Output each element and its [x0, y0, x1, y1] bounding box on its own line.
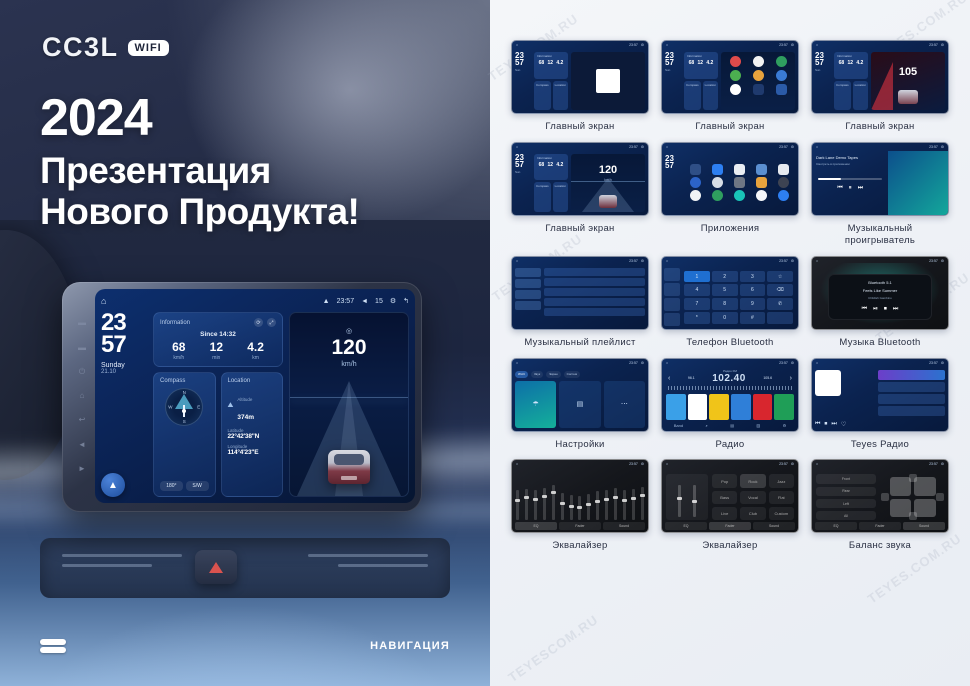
- mini-clock: 2357Sun: [815, 52, 831, 110]
- gallery-item[interactable]: ⌂23:57⚙ Dark Lane Demo Tapes Смотреть в …: [812, 142, 948, 247]
- call-icon[interactable]: ✆: [767, 298, 793, 310]
- balance-right-button[interactable]: [936, 493, 944, 501]
- balance-down-button[interactable]: [909, 512, 917, 520]
- gear-icon: ⚙: [941, 361, 944, 365]
- radio-toolbar[interactable]: Band ⌕ ▤ ▥ ⚙: [664, 422, 796, 429]
- gallery-item[interactable]: ⌂23:57⚙ 2357: [662, 142, 798, 247]
- thumb-status-bar: ⌂23:57⚙: [512, 460, 648, 468]
- tab-sound[interactable]: Sound: [603, 522, 645, 530]
- tab-sound[interactable]: Sound: [903, 522, 945, 530]
- screenshot-gallery: TEYESCOM.RU TEYES.COM.RU TEYESCOM.RU TEY…: [490, 0, 970, 686]
- tab-sound[interactable]: Sound: [753, 522, 795, 530]
- preset-pad[interactable]: Vocal: [740, 491, 765, 504]
- thumb-status-bar: ⌂23:57⚙: [812, 359, 948, 367]
- next-track-button[interactable]: ►: [78, 465, 86, 473]
- mini-home: 2357Sun Information68124.2 CompassLocati…: [662, 49, 798, 113]
- screenshot-equalizer-bars[interactable]: ⌂23:57⚙: [511, 459, 649, 533]
- teyes-station-list[interactable]: [878, 370, 945, 428]
- app-icon[interactable]: [690, 190, 701, 201]
- screenshot-home-apps[interactable]: ⌂23:57⚙ 2357Sun Information68124.2 Compa…: [661, 40, 799, 114]
- dial-key[interactable]: 8: [712, 298, 738, 310]
- screenshot-home-speed-red[interactable]: ⌂23:57⚙ 2357Sun Information68124.2 Compa…: [811, 40, 949, 114]
- gallery-item[interactable]: ⌂23:57⚙ 123☆ 456⌫ 789✆ *0# Телефон Bluet…: [662, 256, 798, 349]
- eq-slider[interactable]: [543, 488, 546, 521]
- dialer-sidebar[interactable]: [664, 268, 680, 326]
- screenshot-equalizer-pads[interactable]: ⌂23:57⚙ Pop Rock Jazz Bass Vocal Fla: [661, 459, 799, 533]
- car-plate: [341, 476, 357, 480]
- app-icon[interactable]: [690, 164, 701, 175]
- eq-slider[interactable]: [614, 488, 617, 520]
- preset-station[interactable]: [753, 394, 773, 420]
- band-button[interactable]: Band: [674, 423, 683, 428]
- volume-up-button[interactable]: ▬: [78, 319, 86, 327]
- preset-row[interactable]: Front: [816, 474, 876, 483]
- vent-line: [62, 564, 152, 567]
- mini-speed-widget: 105: [871, 52, 945, 110]
- backspace-icon[interactable]: ⌫: [767, 284, 793, 296]
- balance-presets[interactable]: Front Rear Left All: [816, 474, 876, 520]
- thumb-time: 23:57: [629, 462, 638, 466]
- dial-key[interactable]: 9: [740, 298, 766, 310]
- tab-eq[interactable]: EQ: [815, 522, 857, 530]
- station-row[interactable]: [878, 406, 945, 416]
- screenshot-home-media[interactable]: ⌂23:57⚙ 2357Sun Information68124.2 Compa…: [511, 40, 649, 114]
- gear-icon: ⚙: [941, 259, 944, 263]
- eq-slider[interactable]: [605, 490, 608, 521]
- app-icon: [776, 84, 787, 95]
- eq-slider[interactable]: [516, 490, 519, 520]
- sidebar-item[interactable]: [515, 301, 541, 310]
- eq-slider[interactable]: [596, 491, 599, 520]
- sidebar-item[interactable]: [515, 279, 541, 288]
- screenshot-sound-balance[interactable]: ⌂23:57⚙ Front Rear Left All: [811, 459, 949, 533]
- app-icon[interactable]: [734, 177, 745, 188]
- speed-limit-icon: ◎: [346, 327, 352, 335]
- thumb-time: 23:57: [779, 361, 788, 365]
- search-icon[interactable]: ⌕: [706, 423, 708, 428]
- gallery-item[interactable]: ⌂23:57⚙ Bluetooth 5.1 Feels Like Summer …: [812, 256, 948, 349]
- tab-fader[interactable]: Fader: [709, 522, 751, 530]
- nav-section-label: НАВИГАЦИЯ: [370, 640, 450, 652]
- preset-pad[interactable]: Custom: [769, 507, 794, 520]
- speed-value: 120: [599, 164, 617, 176]
- thumb-time: 23:57: [929, 43, 938, 47]
- next-station-button[interactable]: ›: [790, 375, 792, 382]
- speaker-rear-right[interactable]: [914, 499, 936, 518]
- gallery-caption: Настройки: [555, 439, 604, 451]
- track-list[interactable]: [544, 268, 645, 326]
- power-button[interactable]: ⏻: [79, 368, 85, 376]
- list-icon[interactable]: ▤: [730, 423, 734, 428]
- hazard-light-button[interactable]: [195, 550, 237, 584]
- eq-slider[interactable]: [578, 496, 581, 520]
- eq-slider[interactable]: [623, 490, 626, 520]
- sidebar-item[interactable]: [664, 268, 680, 281]
- dial-key[interactable]: 0: [712, 312, 738, 324]
- mini-media-widget: [571, 52, 645, 110]
- pause-button[interactable]: ⏸: [849, 185, 852, 192]
- thumb-status-bar: ⌂23:57⚙: [512, 257, 648, 265]
- preset-station[interactable]: [774, 394, 794, 420]
- clock-column: 23 57 Sunday 21.10 ▲: [101, 312, 147, 497]
- player-controls[interactable]: ⏮ ⏸ ⏭: [816, 185, 884, 192]
- thumb-time: 23:57: [629, 259, 638, 263]
- thumb-time: 23:57: [779, 259, 788, 263]
- preset-station[interactable]: [666, 394, 686, 420]
- sidebar-item[interactable]: [515, 290, 541, 299]
- gallery-item[interactable]: ⌂23:57⚙ 2357Sun Information68124.2 Compa…: [812, 40, 948, 133]
- frequency-scale[interactable]: [668, 386, 792, 390]
- compass-center-dot: [182, 409, 186, 413]
- equalizer-tabs[interactable]: EQ Fader Sound: [515, 522, 645, 530]
- app-icon[interactable]: [712, 190, 723, 201]
- preset-pad[interactable]: Bass: [712, 491, 737, 504]
- app-icon: [730, 56, 741, 67]
- information-header: Information ⟳ ⤢: [160, 318, 276, 327]
- app-icon[interactable]: [756, 164, 767, 175]
- player-artist: Смотреть в приложении: [816, 162, 884, 166]
- preset-row[interactable]: Rear: [816, 487, 876, 496]
- settings-icon[interactable]: ⚙: [783, 423, 787, 428]
- tab-eq[interactable]: EQ: [515, 522, 557, 530]
- gallery-item[interactable]: ⌂23:57⚙ Pop Rock Jazz Bass Vocal Fla: [662, 459, 798, 552]
- sidebar-item[interactable]: [664, 298, 680, 311]
- screenshot-settings[interactable]: ⌂23:57⚙ Wi-Fi Звук Экран Систем ☂ ▤ ⋯: [511, 358, 649, 432]
- dial-key[interactable]: 5: [712, 284, 738, 296]
- headline: 2024 Презентация Нового Продукта!: [40, 92, 359, 233]
- next-button[interactable]: ⏭: [858, 185, 863, 192]
- head-unit-device: ▬ ▬ ⏻ ⌂ ↩ ◄ ► ⌂ ▲ 23:57 ◄ 15: [62, 282, 422, 512]
- dial-key[interactable]: 4: [684, 284, 710, 296]
- tab-fader[interactable]: Fader: [559, 522, 601, 530]
- eq-slider[interactable]: [587, 494, 590, 520]
- tab-eq[interactable]: EQ: [665, 522, 707, 530]
- preset-pad[interactable]: Live: [712, 507, 737, 520]
- screenshot-music-player[interactable]: ⌂23:57⚙ Dark Lane Demo Tapes Смотреть в …: [811, 142, 949, 216]
- gallery-item[interactable]: ⌂23:57⚙: [512, 459, 648, 552]
- home-icon: ⌂: [816, 145, 818, 149]
- back-icon[interactable]: ↰: [403, 297, 409, 305]
- mini-app-shortcuts: [721, 52, 795, 110]
- gallery-item[interactable]: ⌂23:57⚙ ⏮ ⏹ ⏭ ♡: [812, 358, 948, 451]
- balance-up-button[interactable]: [909, 474, 917, 482]
- preset-pad[interactable]: Jazz: [769, 474, 794, 487]
- hazard-triangle-icon: [209, 562, 223, 573]
- preset-pads[interactable]: Pop Rock Jazz Bass Vocal Flat Live Club …: [712, 474, 794, 520]
- location-card[interactable]: Location ⛰ Altitude 374m: [221, 372, 284, 497]
- sidebar-item[interactable]: [664, 283, 680, 296]
- speed-value: 105: [899, 66, 917, 78]
- altitude-value: 374m: [237, 414, 254, 421]
- preset-row[interactable]: Left: [816, 499, 876, 508]
- dial-key[interactable]: #: [740, 312, 766, 324]
- teyes-controls[interactable]: ⏮ ⏹ ⏭ ♡: [815, 421, 875, 428]
- information-card[interactable]: Information ⟳ ⤢ Since 14:32 68: [153, 312, 283, 367]
- bt-controls[interactable]: ⏮ ⏯ ⏹ ⏭: [862, 306, 899, 313]
- mini-info-card: Information68124.2: [684, 52, 718, 79]
- gallery-row: ⌂23:57⚙: [512, 459, 948, 552]
- stat-unit: km: [247, 355, 264, 361]
- screenshot-playlist[interactable]: ⌂23:57⚙: [511, 256, 649, 330]
- equalizer-tabs[interactable]: EQ Fader Sound: [665, 522, 795, 530]
- expand-icon[interactable]: ⤢: [267, 318, 276, 327]
- eq-slider[interactable]: [561, 493, 564, 520]
- preset-station[interactable]: [688, 394, 708, 420]
- eq-slider[interactable]: [552, 485, 555, 520]
- speed-panel[interactable]: ◎ 120 km/h: [289, 312, 409, 497]
- thumb-time: 23:57: [929, 361, 938, 365]
- preset-row[interactable]: All: [816, 511, 876, 520]
- carplay-icon[interactable]: ▤: [559, 381, 600, 428]
- app-icon[interactable]: [778, 190, 789, 201]
- dial-key[interactable]: 3: [740, 271, 766, 283]
- gallery-row: ⌂23:57⚙ Музыкальный плейлист ⌂23:57⚙ 123…: [512, 256, 948, 349]
- app-icon[interactable]: [756, 177, 767, 188]
- vent-line: [308, 554, 428, 557]
- prev-track-button[interactable]: ◄: [78, 441, 86, 449]
- thumb-time: 23:57: [629, 43, 638, 47]
- preset-pad[interactable]: Flat: [769, 491, 794, 504]
- gallery-row: ⌂23:57⚙ 2357Sun Information68124.2 Compa…: [512, 142, 948, 247]
- gallery-caption: Приложения: [701, 223, 760, 235]
- eq-slider[interactable]: [570, 495, 573, 521]
- preset-pad[interactable]: Rock: [740, 474, 765, 487]
- tab-wifi[interactable]: Wi-Fi: [515, 371, 528, 378]
- status-bar: ⌂ ▲ 23:57 ◄ 15 ⚙ ↰: [101, 295, 409, 307]
- mini-location: Location: [553, 182, 568, 211]
- stop-button[interactable]: ⏹: [824, 421, 827, 428]
- information-actions[interactable]: ⟳ ⤢: [254, 318, 276, 327]
- app-icon[interactable]: [756, 190, 767, 201]
- dial-key[interactable]: [767, 312, 793, 324]
- navigation-arrow-icon[interactable]: ▲: [101, 473, 125, 497]
- eq-slider[interactable]: [678, 485, 681, 517]
- dual-sliders[interactable]: [666, 474, 708, 520]
- tab-display[interactable]: Экран: [546, 371, 560, 378]
- mini-home: 2357Sun Information68124.2 CompassLocati…: [512, 151, 648, 215]
- gallery-item[interactable]: ⌂23:57⚙ 2357Sun Information68124.2 Compa…: [512, 142, 648, 247]
- home-icon: ⌂: [816, 43, 818, 47]
- thumb-status-bar: ⌂23:57⚙: [812, 41, 948, 49]
- thumb-status-bar: ⌂23:57⚙: [662, 359, 798, 367]
- previous-button[interactable]: ⏮: [862, 306, 867, 313]
- thumb-status-bar: ⌂23:57⚙: [662, 41, 798, 49]
- thumb-status-bar: ⌂23:57⚙: [512, 41, 648, 49]
- more-icon[interactable]: ⋯: [604, 381, 645, 428]
- settings-tabs[interactable]: Wi-Fi Звук Экран Систем: [515, 371, 645, 378]
- watermark: TEYESCOM.RU: [505, 612, 601, 685]
- speaker-front-right[interactable]: [914, 477, 936, 496]
- head-unit-screen[interactable]: ⌂ ▲ 23:57 ◄ 15 ⚙ ↰ 23 57: [95, 289, 415, 503]
- home-button[interactable]: ⌂: [80, 392, 85, 400]
- app-icon[interactable]: [734, 164, 745, 175]
- screenshot-apps[interactable]: ⌂23:57⚙ 2357: [661, 142, 799, 216]
- wifi-icon[interactable]: ☂: [515, 381, 556, 428]
- dial-key[interactable]: 6: [740, 284, 766, 296]
- favorite-icon[interactable]: ♡: [841, 421, 846, 428]
- gallery-item[interactable]: ⌂23:57⚙ 2357Sun Information68124.2 Compa…: [662, 40, 798, 133]
- thumb-time: 23:57: [929, 145, 938, 149]
- dial-pad[interactable]: 123☆ 456⌫ 789✆ *0#: [682, 269, 795, 326]
- app-icon[interactable]: [712, 164, 723, 175]
- gear-icon[interactable]: ⚙: [390, 297, 396, 305]
- next-button[interactable]: ⏭: [831, 421, 836, 428]
- compass-heading: 180°: [160, 481, 183, 491]
- gallery-item[interactable]: ⌂23:57⚙ Музыкальный плейлист: [512, 256, 648, 349]
- car-window: [334, 454, 364, 465]
- preset-station[interactable]: [709, 394, 729, 420]
- eq-slider[interactable]: [693, 485, 696, 517]
- layers-stack-icon: [40, 639, 66, 653]
- balance-left-button[interactable]: [881, 493, 889, 501]
- gear-icon: ⚙: [791, 259, 794, 263]
- track-row[interactable]: [544, 308, 645, 316]
- prev-station-button[interactable]: ‹: [668, 375, 670, 382]
- previous-button[interactable]: ⏮: [815, 421, 820, 428]
- gallery-caption: Радио: [716, 439, 745, 451]
- equalizer-tabs[interactable]: EQ Fader Sound: [815, 522, 945, 530]
- next-button[interactable]: ⏭: [893, 306, 898, 313]
- mini-info-card: Information68124.2: [834, 52, 868, 79]
- tab-fader[interactable]: Fader: [859, 522, 901, 530]
- eq-slider[interactable]: [641, 487, 644, 520]
- preset-pad[interactable]: Pop: [712, 474, 737, 487]
- hero-footer: НАВИГАЦИЯ: [0, 606, 490, 686]
- tab-sound[interactable]: Звук: [531, 371, 543, 378]
- compass-s: S: [183, 419, 186, 424]
- mini-compass: Compass: [534, 81, 551, 110]
- screenshot-teyes-radio[interactable]: ⌂23:57⚙ ⏮ ⏹ ⏭ ♡: [811, 358, 949, 432]
- app-icon[interactable]: [778, 164, 789, 175]
- screenshot-radio[interactable]: ⌂23:57⚙ Радио FM ‹ 96.1 102.40 105.6 ›: [661, 358, 799, 432]
- volume-down-button[interactable]: ▬: [78, 344, 86, 352]
- track-row[interactable]: [544, 268, 645, 276]
- dial-key[interactable]: 7: [684, 298, 710, 310]
- compass-e: E: [197, 405, 200, 410]
- refresh-icon[interactable]: ⟳: [254, 318, 263, 327]
- app-icon[interactable]: [690, 177, 701, 188]
- track-row[interactable]: [544, 278, 645, 286]
- track-row[interactable]: [544, 298, 645, 306]
- app-grid[interactable]: [684, 153, 795, 212]
- gear-icon: ⚙: [641, 361, 644, 365]
- logo-text: CC3L: [42, 32, 119, 63]
- speed-unit: km/h: [604, 178, 612, 182]
- app-icon[interactable]: [734, 190, 745, 201]
- gear-icon: ⚙: [941, 43, 944, 47]
- clock-date: 21.10: [101, 369, 147, 375]
- mini-location: Location: [553, 81, 568, 110]
- favorite-icon[interactable]: ☆: [767, 271, 793, 283]
- eq-slider[interactable]: [525, 489, 528, 521]
- gallery-item[interactable]: ⌂23:57⚙ 2357Sun Information68124.2 Compa…: [512, 40, 648, 133]
- preset-pad[interactable]: Club: [740, 507, 765, 520]
- station-row[interactable]: [878, 382, 945, 392]
- preset-station[interactable]: [731, 394, 751, 420]
- latitude-value: 22°42'38"N: [228, 433, 277, 440]
- lower-cards: Compass N E S W: [153, 372, 283, 497]
- progress-bar[interactable]: [818, 178, 882, 180]
- presentation-page: CC3L WIFI 2024 Презентация Нового Продук…: [0, 0, 970, 686]
- compass-card[interactable]: Compass N E S W: [153, 372, 216, 497]
- station-presets[interactable]: [664, 392, 796, 422]
- play-pause-button[interactable]: ⏯: [873, 306, 878, 313]
- gallery-item[interactable]: ⌂23:57⚙ Front Rear Left All: [812, 459, 948, 552]
- eq-icon[interactable]: ▥: [756, 423, 760, 428]
- back-button[interactable]: ↩: [79, 416, 86, 424]
- gallery-item[interactable]: ⌂23:57⚙ Радио FM ‹ 96.1 102.40 105.6 ›: [662, 358, 798, 451]
- home-icon: ⌂: [816, 462, 818, 466]
- dial-key[interactable]: 1: [684, 271, 710, 283]
- bluetooth-badge: Bluetooth 5.1: [868, 280, 892, 285]
- screenshot-bluetooth-music[interactable]: ⌂23:57⚙ Bluetooth 5.1 Feels Like Summer …: [811, 256, 949, 330]
- gallery-caption: Баланс звука: [849, 540, 911, 552]
- home-icon: ⌂: [816, 361, 818, 365]
- dial-key[interactable]: 2: [712, 271, 738, 283]
- sidebar-item[interactable]: [664, 313, 680, 326]
- mountain-icon: ⛰: [228, 402, 234, 410]
- gallery-row: ⌂23:57⚙ Wi-Fi Звук Экран Систем ☂ ▤ ⋯: [512, 358, 948, 451]
- gear-icon: ⚙: [791, 145, 794, 149]
- thumb-status-bar: ⌂23:57⚙: [512, 359, 648, 367]
- previous-button[interactable]: ⏮: [837, 185, 842, 192]
- sidebar-item[interactable]: [515, 268, 541, 277]
- player-layout: Dark Lane Demo Tapes Смотреть в приложен…: [812, 151, 948, 215]
- playlist-sidebar[interactable]: [515, 268, 541, 326]
- equalizer-sliders[interactable]: [516, 476, 644, 520]
- stop-button[interactable]: ⏹: [884, 306, 887, 313]
- clock-day: Sunday: [101, 362, 147, 369]
- screenshot-home-speed[interactable]: ⌂23:57⚙ 2357Sun Information68124.2 Compa…: [511, 142, 649, 216]
- app-icon: [776, 70, 787, 81]
- radio-tuner[interactable]: ‹ 96.1 102.40 105.6 ›: [664, 373, 796, 384]
- thumb-status-bar: ⌂23:57⚙: [662, 460, 798, 468]
- balance-pad[interactable]: [881, 474, 944, 520]
- screenshot-bluetooth-dialer[interactable]: ⌂23:57⚙ 123☆ 456⌫ 789✆ *0#: [661, 256, 799, 330]
- side-button-strip[interactable]: ▬ ▬ ⏻ ⌂ ↩ ◄ ►: [69, 289, 95, 503]
- mini-location: Location: [853, 81, 868, 110]
- app-icon[interactable]: [712, 177, 723, 188]
- thumb-status-bar: ⌂23:57⚙: [812, 143, 948, 151]
- mini-location: Location: [703, 81, 718, 110]
- album-art: [815, 370, 841, 396]
- thumb-status-bar: ⌂23:57⚙: [812, 257, 948, 265]
- location-header: Location: [228, 378, 277, 384]
- station-row[interactable]: [878, 370, 945, 380]
- track-row[interactable]: [544, 288, 645, 296]
- radio-layout: Радио FM ‹ 96.1 102.40 105.6 ›: [662, 367, 798, 431]
- app-icon: [776, 56, 787, 67]
- next-freq: 105.6: [763, 376, 772, 380]
- dial-key[interactable]: *: [684, 312, 710, 324]
- compass-title: Compass: [160, 378, 185, 384]
- tab-system[interactable]: Систем: [564, 371, 580, 378]
- mini-clock: 2357Sun: [515, 52, 531, 110]
- settings-tiles[interactable]: ☂ ▤ ⋯: [515, 381, 645, 428]
- home-icon[interactable]: ⌂: [101, 296, 106, 306]
- eq-slider[interactable]: [632, 489, 635, 520]
- station-row[interactable]: [878, 394, 945, 404]
- stat-value: 12: [210, 341, 223, 353]
- gallery-item[interactable]: ⌂23:57⚙ Wi-Fi Звук Экран Систем ☂ ▤ ⋯: [512, 358, 648, 451]
- mini-compass: Compass: [684, 81, 701, 110]
- speaker-quad[interactable]: [890, 477, 936, 517]
- thumb-time: 23:57: [779, 145, 788, 149]
- app-icon[interactable]: [778, 177, 789, 188]
- app-icon: [730, 70, 741, 81]
- thumb-status-bar: ⌂23:57⚙: [662, 257, 798, 265]
- eq-slider[interactable]: [534, 490, 537, 521]
